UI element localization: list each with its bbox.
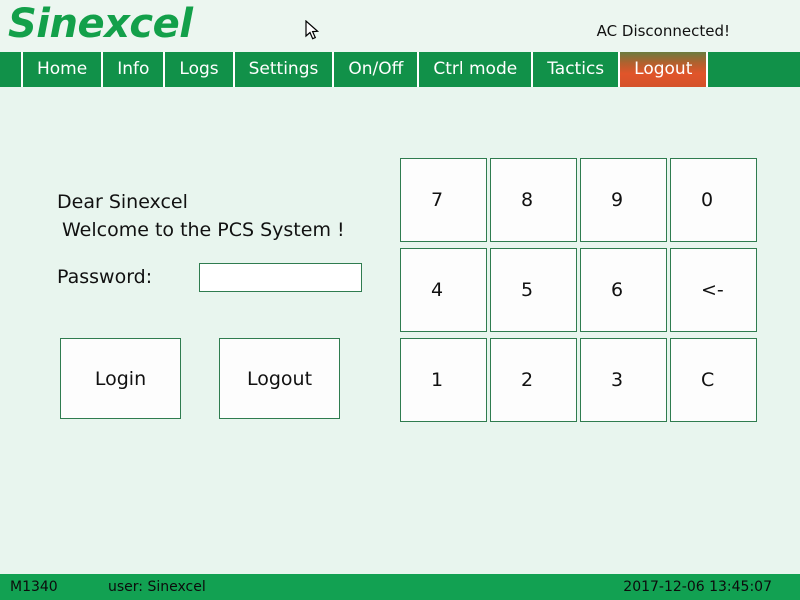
key-9[interactable]: 9 xyxy=(580,158,667,242)
key-6[interactable]: 6 xyxy=(580,248,667,332)
pcs-login-screen: Sinexcel AC Disconnected! Home Info Logs… xyxy=(0,0,800,600)
key-1[interactable]: 1 xyxy=(400,338,487,422)
tab-logout[interactable]: Logout xyxy=(618,52,708,87)
key-8[interactable]: 8 xyxy=(490,158,577,242)
tab-logs[interactable]: Logs xyxy=(163,52,234,87)
password-label: Password: xyxy=(57,266,152,288)
login-button[interactable]: Login xyxy=(60,338,181,419)
key-0[interactable]: 0 xyxy=(670,158,757,242)
tab-home[interactable]: Home xyxy=(21,52,103,87)
status-device-id: M1340 xyxy=(10,579,58,595)
key-7[interactable]: 7 xyxy=(400,158,487,242)
key-clear[interactable]: C xyxy=(670,338,757,422)
tab-info[interactable]: Info xyxy=(101,52,165,87)
main-navigation: Home Info Logs Settings On/Off Ctrl mode… xyxy=(0,52,800,87)
logout-button[interactable]: Logout xyxy=(219,338,340,419)
tab-on-off[interactable]: On/Off xyxy=(332,52,419,87)
key-backspace[interactable]: <- xyxy=(670,248,757,332)
key-2[interactable]: 2 xyxy=(490,338,577,422)
status-bar: M1340 user: Sinexcel 2017-12-06 13:45:07 xyxy=(0,574,800,600)
key-5[interactable]: 5 xyxy=(490,248,577,332)
greeting-block: Dear Sinexcel Welcome to the PCS System … xyxy=(57,188,345,244)
key-3[interactable]: 3 xyxy=(580,338,667,422)
tab-ctrl-mode[interactable]: Ctrl mode xyxy=(417,52,533,87)
password-input[interactable] xyxy=(199,263,362,292)
nav-leading-spacer xyxy=(0,52,21,87)
status-datetime: 2017-12-06 13:45:07 xyxy=(623,579,772,595)
sinexcel-logo: Sinexcel xyxy=(8,1,192,47)
numeric-keypad: 7 8 9 0 4 5 6 <- 1 2 3 C xyxy=(400,158,757,430)
ac-status-text: AC Disconnected! xyxy=(597,22,730,40)
tab-tactics[interactable]: Tactics xyxy=(531,52,620,87)
nav-trailing-spacer xyxy=(704,52,800,87)
greeting-line-1: Dear Sinexcel xyxy=(57,188,345,216)
login-content: Dear Sinexcel Welcome to the PCS System … xyxy=(0,87,800,572)
key-4[interactable]: 4 xyxy=(400,248,487,332)
header-band: Sinexcel AC Disconnected! xyxy=(0,0,800,52)
greeting-line-2: Welcome to the PCS System ! xyxy=(57,216,345,244)
status-user: user: Sinexcel xyxy=(108,579,206,595)
tab-settings[interactable]: Settings xyxy=(233,52,335,87)
